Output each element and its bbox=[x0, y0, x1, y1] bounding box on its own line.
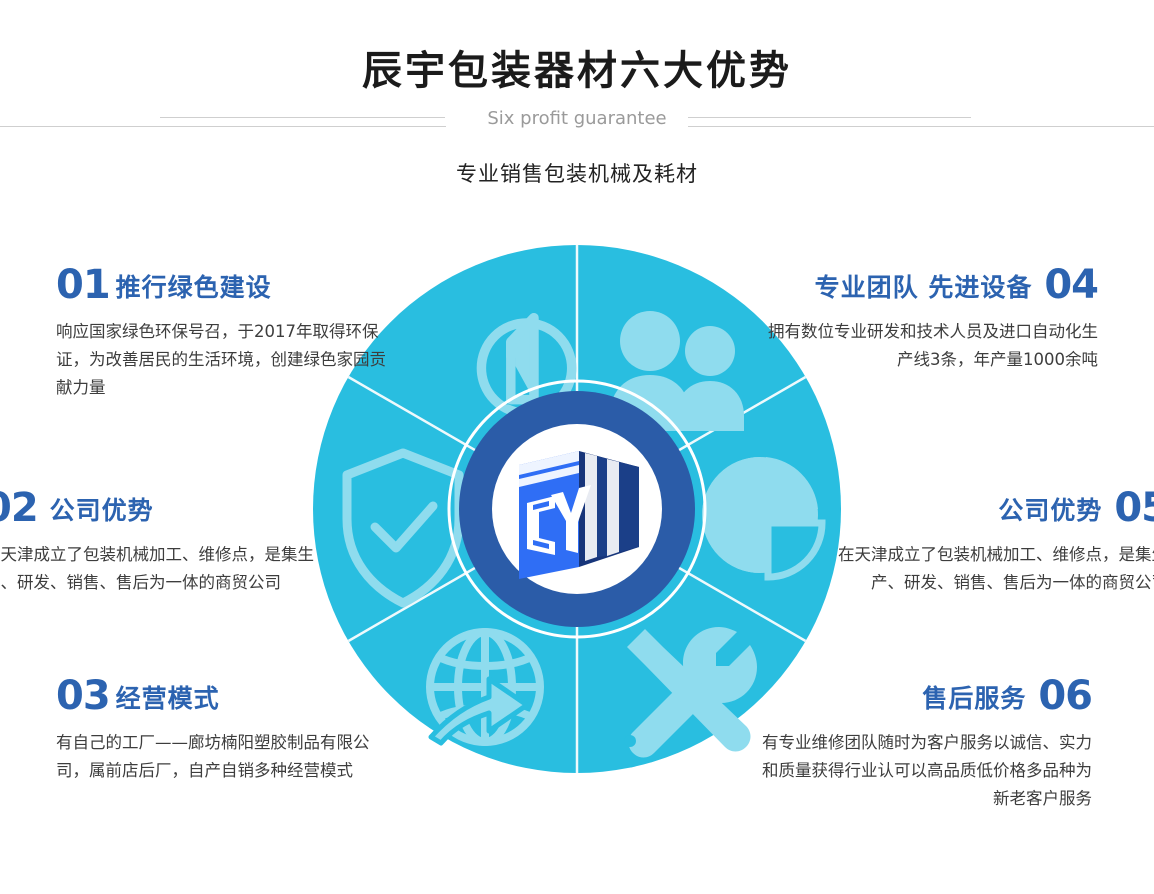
feature-03-head: 03经营模式 bbox=[56, 673, 386, 719]
feature-02-number: 02 bbox=[0, 485, 38, 531]
feature-02-description: 在天津成立了包装机械加工、维修点，是集生产、研发、销售、售后为一体的商贸公司 bbox=[0, 541, 314, 597]
feature-05-label: 公司优势 bbox=[998, 496, 1102, 525]
feature-item-04: 专业团队 先进设备04 拥有数位专业研发和技术人员及进口自动化生产线3条，年产量… bbox=[768, 262, 1098, 374]
feature-item-06: 售后服务06 有专业维修团队随时为客户服务以诚信、实力和质量获得行业认可以高品质… bbox=[762, 673, 1092, 813]
feature-04-label: 专业团队 先进设备 bbox=[815, 273, 1033, 302]
feature-03-number: 03 bbox=[56, 673, 110, 719]
infographic-page: 辰宇包装器材六大优势 Six profit guarantee 专业销售包装机械… bbox=[0, 0, 1154, 894]
feature-06-label: 售后服务 bbox=[922, 684, 1026, 713]
feature-item-03: 03经营模式 有自己的工厂——廊坊楠阳塑胶制品有限公司，属前店后厂，自产自销多种… bbox=[56, 673, 386, 785]
feature-item-05: 公司优势05 在天津成立了包装机械加工、维修点，是集生产、研发、销售、售后为一体… bbox=[838, 485, 1154, 597]
globe-arrow-icon bbox=[430, 632, 540, 743]
feature-01-label: 推行绿色建设 bbox=[116, 273, 272, 302]
feature-04-head: 专业团队 先进设备04 bbox=[768, 262, 1098, 308]
feature-02-head: 02公司优势 bbox=[0, 485, 314, 531]
feature-06-description: 有专业维修团队随时为客户服务以诚信、实力和质量获得行业认可以高品质低价格多品种为… bbox=[762, 729, 1092, 813]
feature-03-label: 经营模式 bbox=[116, 684, 220, 713]
feature-04-description: 拥有数位专业研发和技术人员及进口自动化生产线3条，年产量1000余吨 bbox=[768, 318, 1098, 374]
subtitle-english: Six profit guarantee bbox=[0, 108, 1154, 129]
feature-06-number: 06 bbox=[1038, 673, 1092, 719]
feature-05-description: 在天津成立了包装机械加工、维修点，是集生产、研发、销售、售后为一体的商贸公司 bbox=[838, 541, 1154, 597]
feature-05-head: 公司优势05 bbox=[838, 485, 1154, 531]
feature-item-02: 02公司优势 在天津成立了包装机械加工、维修点，是集生产、研发、销售、售后为一体… bbox=[0, 485, 314, 597]
feature-05-number: 05 bbox=[1114, 485, 1154, 531]
feature-02-label: 公司优势 bbox=[50, 496, 154, 525]
feature-03-description: 有自己的工厂——廊坊楠阳塑胶制品有限公司，属前店后厂，自产自销多种经营模式 bbox=[56, 729, 386, 785]
header: 辰宇包装器材六大优势 Six profit guarantee 专业销售包装机械… bbox=[0, 0, 1154, 200]
feature-06-head: 售后服务06 bbox=[762, 673, 1092, 719]
feature-01-number: 01 bbox=[56, 262, 110, 308]
feature-04-number: 04 bbox=[1044, 262, 1098, 308]
feature-01-head: 01推行绿色建设 bbox=[56, 262, 386, 308]
subtitle-chinese: 专业销售包装机械及耗材 bbox=[0, 158, 1154, 188]
page-title: 辰宇包装器材六大优势 bbox=[0, 38, 1154, 96]
feature-item-01: 01推行绿色建设 响应国家绿色环保号召，于2017年取得环保证，为改善居民的生活… bbox=[56, 262, 386, 402]
feature-01-description: 响应国家绿色环保号召，于2017年取得环保证，为改善居民的生活环境，创建绿色家园… bbox=[56, 318, 386, 402]
